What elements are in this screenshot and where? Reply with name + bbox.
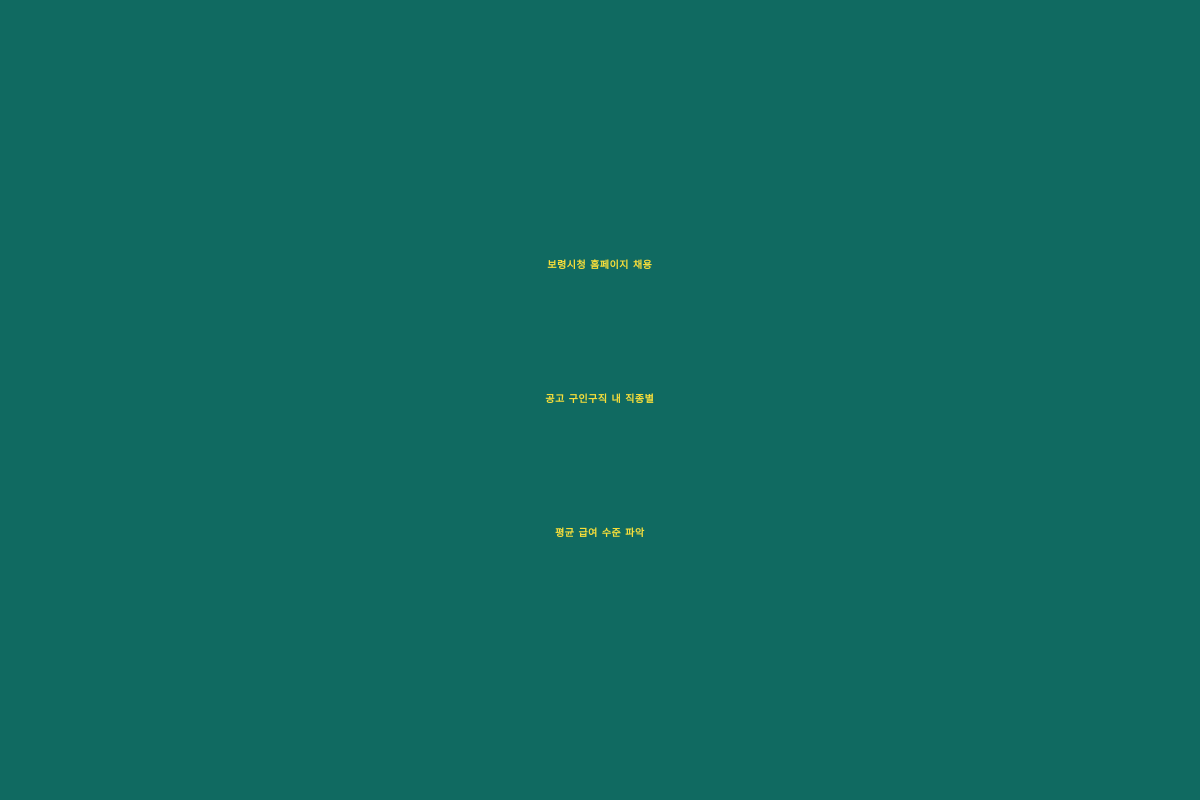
title-line-2: 공고 구인구직 내 직종별	[40, 333, 1160, 467]
banner-canvas: 보령시청 홈페이지 채용 공고 구인구직 내 직종별 평균 급여 수준 파악	[0, 0, 1200, 800]
title-line-1: 보령시청 홈페이지 채용	[40, 199, 1160, 333]
title-block: 보령시청 홈페이지 채용 공고 구인구직 내 직종별 평균 급여 수준 파악	[0, 199, 1200, 601]
title-line-3: 평균 급여 수준 파악	[40, 467, 1160, 601]
